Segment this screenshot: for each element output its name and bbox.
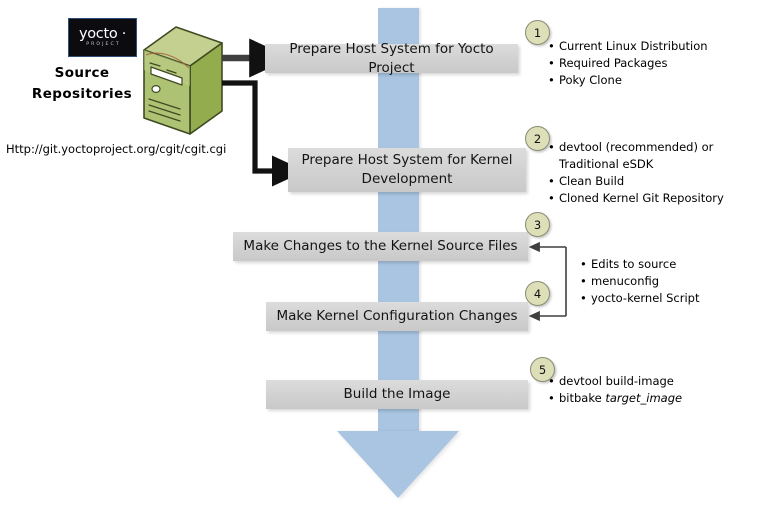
- bullet-list-step-1: • Current Linux Distribution • Required …: [548, 38, 763, 89]
- bullet-dot-icon: •: [548, 139, 559, 156]
- list-item: • devtool build-image: [548, 373, 763, 390]
- bullet-text-italic-term: bitbake target_image: [559, 390, 682, 407]
- bullet-text: yocto-kernel Script: [591, 290, 700, 307]
- bullet-text: Current Linux Distribution: [559, 38, 708, 55]
- list-item: • menuconfig: [580, 273, 765, 290]
- bullet-text: Edits to source: [591, 256, 676, 273]
- bullet-list-step-2: • devtool (recommended) or Traditional e…: [548, 139, 763, 207]
- bullet-dot-icon: •: [548, 190, 559, 207]
- process-box-step-2[interactable]: Prepare Host System for Kernel Developme…: [288, 148, 526, 192]
- bullet-dot-icon: •: [548, 373, 559, 390]
- step-badge-1: 1: [525, 20, 550, 45]
- list-item: • Poky Clone: [548, 72, 763, 89]
- step-badge-3: 3: [525, 212, 550, 237]
- bullet-text: Poky Clone: [559, 72, 622, 89]
- list-item: • Clean Build: [548, 173, 763, 190]
- list-item: • Current Linux Distribution: [548, 38, 763, 55]
- process-box-step-4[interactable]: Make Kernel Configuration Changes: [266, 302, 528, 331]
- bullet-text: devtool build-image: [559, 373, 674, 390]
- process-box-step-5[interactable]: Build the Image: [266, 380, 528, 409]
- bullet-list-steps-3-4: • Edits to source • menuconfig • yocto-k…: [580, 256, 765, 307]
- list-item: • bitbake target_image: [548, 390, 763, 407]
- bullet-dot-icon: •: [548, 38, 559, 55]
- bullet-text: Required Packages: [559, 55, 668, 72]
- source-label-line2: Repositories: [18, 84, 146, 105]
- bullet-dot-icon: •: [548, 55, 559, 72]
- list-item: • Required Packages: [548, 55, 763, 72]
- bullet-text: devtool (recommended) or Traditional eSD…: [559, 139, 719, 173]
- source-label-line1: Source: [18, 63, 146, 84]
- server-tower-icon: [136, 23, 230, 140]
- logo-wordmark: yocto ·: [79, 27, 126, 42]
- bullet-text: menuconfig: [591, 273, 659, 290]
- bullet-text: Cloned Kernel Git Repository: [559, 190, 724, 207]
- bullet-dot-icon: •: [548, 390, 559, 407]
- bullet-dot-icon: •: [580, 290, 591, 307]
- logo-subtext: PROJECT: [84, 43, 121, 48]
- bullet-list-step-5: • devtool build-image • bitbake target_i…: [548, 373, 763, 407]
- source-repository-url: Http://git.yoctoproject.org/cgit/cgit.cg…: [6, 142, 226, 156]
- list-item: • devtool (recommended) or Traditional e…: [548, 139, 763, 173]
- source-repositories-label: Source Repositories: [18, 63, 146, 105]
- arrow-server-to-step2: [222, 83, 278, 171]
- yocto-project-logo: yocto · PROJECT: [68, 18, 137, 57]
- bullet-dot-icon: •: [580, 273, 591, 290]
- bullet-dot-icon: •: [548, 72, 559, 89]
- diagram-canvas: yocto · PROJECT Source Repositories Http…: [0, 0, 769, 517]
- bullet-dot-icon: •: [580, 256, 591, 273]
- bullet-dot-icon: •: [548, 173, 559, 190]
- list-item: • yocto-kernel Script: [580, 290, 765, 307]
- process-box-step-3[interactable]: Make Changes to the Kernel Source Files: [233, 232, 528, 261]
- step-badge-4: 4: [525, 281, 550, 306]
- list-item: • Cloned Kernel Git Repository: [548, 190, 763, 207]
- list-item: • Edits to source: [580, 256, 765, 273]
- process-box-step-1[interactable]: Prepare Host System for Yocto Project: [265, 44, 518, 73]
- step-badge-2: 2: [525, 126, 550, 151]
- workflow-arrowhead-icon: [337, 431, 459, 498]
- bullet-text: Clean Build: [559, 173, 624, 190]
